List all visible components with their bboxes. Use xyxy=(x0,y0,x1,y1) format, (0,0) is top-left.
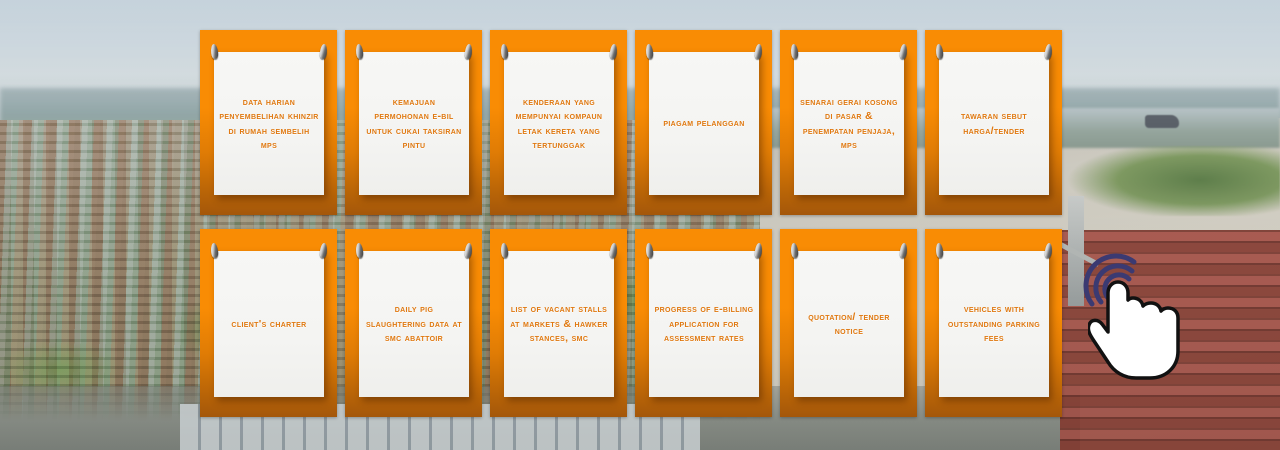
pin-clip-icon xyxy=(464,44,473,60)
pin-clip-icon xyxy=(500,44,509,60)
quick-link-label: Vehicles With Outstanding Parking Fees xyxy=(944,302,1044,346)
quick-link-panel-piagam-pelanggan[interactable]: Piagam Pelanggan xyxy=(635,30,772,215)
quick-links-row-1: Data Harian Penyembelihan Khinzir Di Rum… xyxy=(200,30,1080,215)
quick-link-label: Senarai Gerai Kosong di Pasar & Penempat… xyxy=(799,95,899,153)
quick-link-label: Piagam Pelanggan xyxy=(663,116,744,131)
quick-link-panel-tawaran-sebut-harga-tender[interactable]: Tawaran Sebut Harga/Tender xyxy=(925,30,1062,215)
pin-clip-icon xyxy=(210,44,219,60)
quick-link-card[interactable]: Data Harian Penyembelihan Khinzir Di Rum… xyxy=(214,52,324,195)
page-root: Data Harian Penyembelihan Khinzir Di Rum… xyxy=(0,0,1280,450)
pin-clip-icon xyxy=(1044,44,1053,60)
pin-clip-icon xyxy=(355,44,364,60)
quick-link-card[interactable]: Piagam Pelanggan xyxy=(649,52,759,195)
pin-clip-icon xyxy=(899,44,908,60)
quick-links-row-2: Client's Charter Daily Pig Slaughtering … xyxy=(200,229,1080,417)
quick-link-card[interactable]: Daily Pig Slaughtering Data At SMC Abatt… xyxy=(359,251,469,397)
quick-link-label: Progress Of e-Billing Application For As… xyxy=(654,302,754,346)
quick-link-panel-clients-charter[interactable]: Client's Charter xyxy=(200,229,337,417)
quick-link-card[interactable]: Vehicles With Outstanding Parking Fees xyxy=(939,251,1049,397)
pin-clip-icon xyxy=(790,44,799,60)
hand-pointer-cursor xyxy=(1078,252,1188,382)
pointing-hand-icon xyxy=(1088,274,1184,382)
quick-link-card[interactable]: Progress Of e-Billing Application For As… xyxy=(649,251,759,397)
quick-link-panel-vehicles-outstanding-parking-fees[interactable]: Vehicles With Outstanding Parking Fees xyxy=(925,229,1062,417)
quick-link-panel-progress-of-ebilling-application[interactable]: Progress Of e-Billing Application For As… xyxy=(635,229,772,417)
pin-clip-icon xyxy=(935,44,944,60)
pin-clip-icon xyxy=(464,243,473,259)
quick-link-panel-kenderaan-kompaun-letak-kereta[interactable]: Kenderaan Yang Mempunyai Kompaun Letak K… xyxy=(490,30,627,215)
pin-clip-icon xyxy=(319,44,328,60)
pin-clip-icon xyxy=(645,44,654,60)
quick-link-label: Quotation/ Tender Notice xyxy=(799,310,899,339)
quick-links-grid: Data Harian Penyembelihan Khinzir Di Rum… xyxy=(200,30,1080,417)
pin-clip-icon xyxy=(609,243,618,259)
pin-clip-icon xyxy=(1044,243,1053,259)
quick-link-label: Daily Pig Slaughtering Data At SMC Abatt… xyxy=(364,302,464,346)
pin-clip-icon xyxy=(210,243,219,259)
quick-link-card[interactable]: Client's Charter xyxy=(214,251,324,397)
quick-link-panel-kemajuan-permohonan-ebil[interactable]: Kemajuan Permohonan e-Bil Untuk Cukai Ta… xyxy=(345,30,482,215)
pin-clip-icon xyxy=(935,243,944,259)
quick-link-label: Tawaran Sebut Harga/Tender xyxy=(944,109,1044,138)
quick-link-panel-data-harian-penyembelihan[interactable]: Data Harian Penyembelihan Khinzir Di Rum… xyxy=(200,30,337,215)
quick-link-label: Kenderaan Yang Mempunyai Kompaun Letak K… xyxy=(509,95,609,153)
pin-clip-icon xyxy=(355,243,364,259)
pin-clip-icon xyxy=(899,243,908,259)
pin-clip-icon xyxy=(790,243,799,259)
quick-link-card[interactable]: List Of Vacant Stalls At Markets & Hawke… xyxy=(504,251,614,397)
quick-link-label: List Of Vacant Stalls At Markets & Hawke… xyxy=(509,302,609,346)
pin-clip-icon xyxy=(754,243,763,259)
pin-clip-icon xyxy=(754,44,763,60)
quick-link-card[interactable]: Kemajuan Permohonan e-Bil Untuk Cukai Ta… xyxy=(359,52,469,195)
pin-clip-icon xyxy=(500,243,509,259)
quick-link-panel-daily-pig-slaughtering-data[interactable]: Daily Pig Slaughtering Data At SMC Abatt… xyxy=(345,229,482,417)
quick-link-panel-list-of-vacant-stalls[interactable]: List Of Vacant Stalls At Markets & Hawke… xyxy=(490,229,627,417)
pin-clip-icon xyxy=(319,243,328,259)
pin-clip-icon xyxy=(645,243,654,259)
quick-link-label: Client's Charter xyxy=(231,317,306,332)
quick-link-label: Kemajuan Permohonan e-Bil Untuk Cukai Ta… xyxy=(364,95,464,153)
quick-link-card[interactable]: Quotation/ Tender Notice xyxy=(794,251,904,397)
pin-clip-icon xyxy=(609,44,618,60)
quick-link-panel-quotation-tender-notice[interactable]: Quotation/ Tender Notice xyxy=(780,229,917,417)
quick-link-card[interactable]: Tawaran Sebut Harga/Tender xyxy=(939,52,1049,195)
quick-link-card[interactable]: Senarai Gerai Kosong di Pasar & Penempat… xyxy=(794,52,904,195)
quick-link-card[interactable]: Kenderaan Yang Mempunyai Kompaun Letak K… xyxy=(504,52,614,195)
quick-link-panel-senarai-gerai-kosong[interactable]: Senarai Gerai Kosong di Pasar & Penempat… xyxy=(780,30,917,215)
quick-link-label: Data Harian Penyembelihan Khinzir Di Rum… xyxy=(219,95,319,153)
